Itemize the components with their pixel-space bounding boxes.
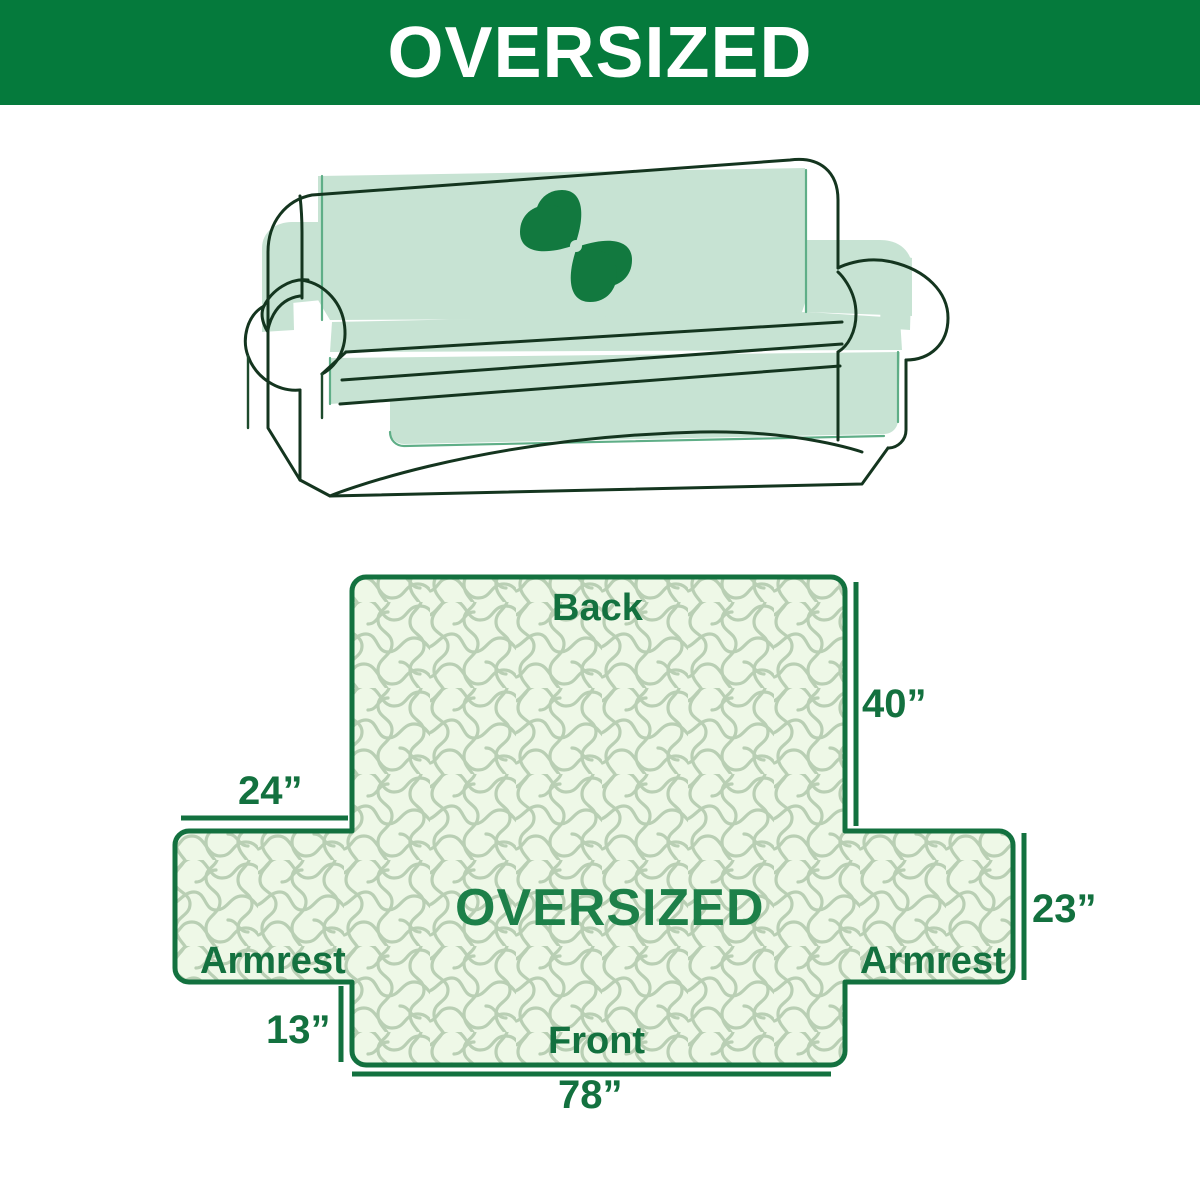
label-back: Back <box>552 587 644 629</box>
dimension-label-78: 78” <box>558 1073 623 1117</box>
label-front: Front <box>548 1020 645 1062</box>
artwork-stage: 40” 23” 24” 13” 78” Back Armrest Armrest… <box>0 0 1200 1200</box>
diagram-canvas: 40” 23” 24” 13” 78” Back Armrest Armrest… <box>0 0 1200 1200</box>
dimension-label-24: 24” <box>238 769 303 813</box>
dimension-label-40: 40” <box>862 682 927 726</box>
label-armrest-right: Armrest <box>860 940 1006 982</box>
label-oversized-center: OVERSIZED <box>455 879 765 937</box>
label-armrest-left: Armrest <box>200 940 346 982</box>
dimension-label-13: 13” <box>266 1008 331 1052</box>
sofa-arm-contours <box>248 356 322 428</box>
sofa-illustration <box>245 159 948 496</box>
cover-outline-shape <box>175 577 1013 1065</box>
dimension-label-23: 23” <box>1032 887 1097 931</box>
flat-lay-diagram: 40” 23” 24” 13” 78” Back Armrest Armrest… <box>175 577 1097 1117</box>
